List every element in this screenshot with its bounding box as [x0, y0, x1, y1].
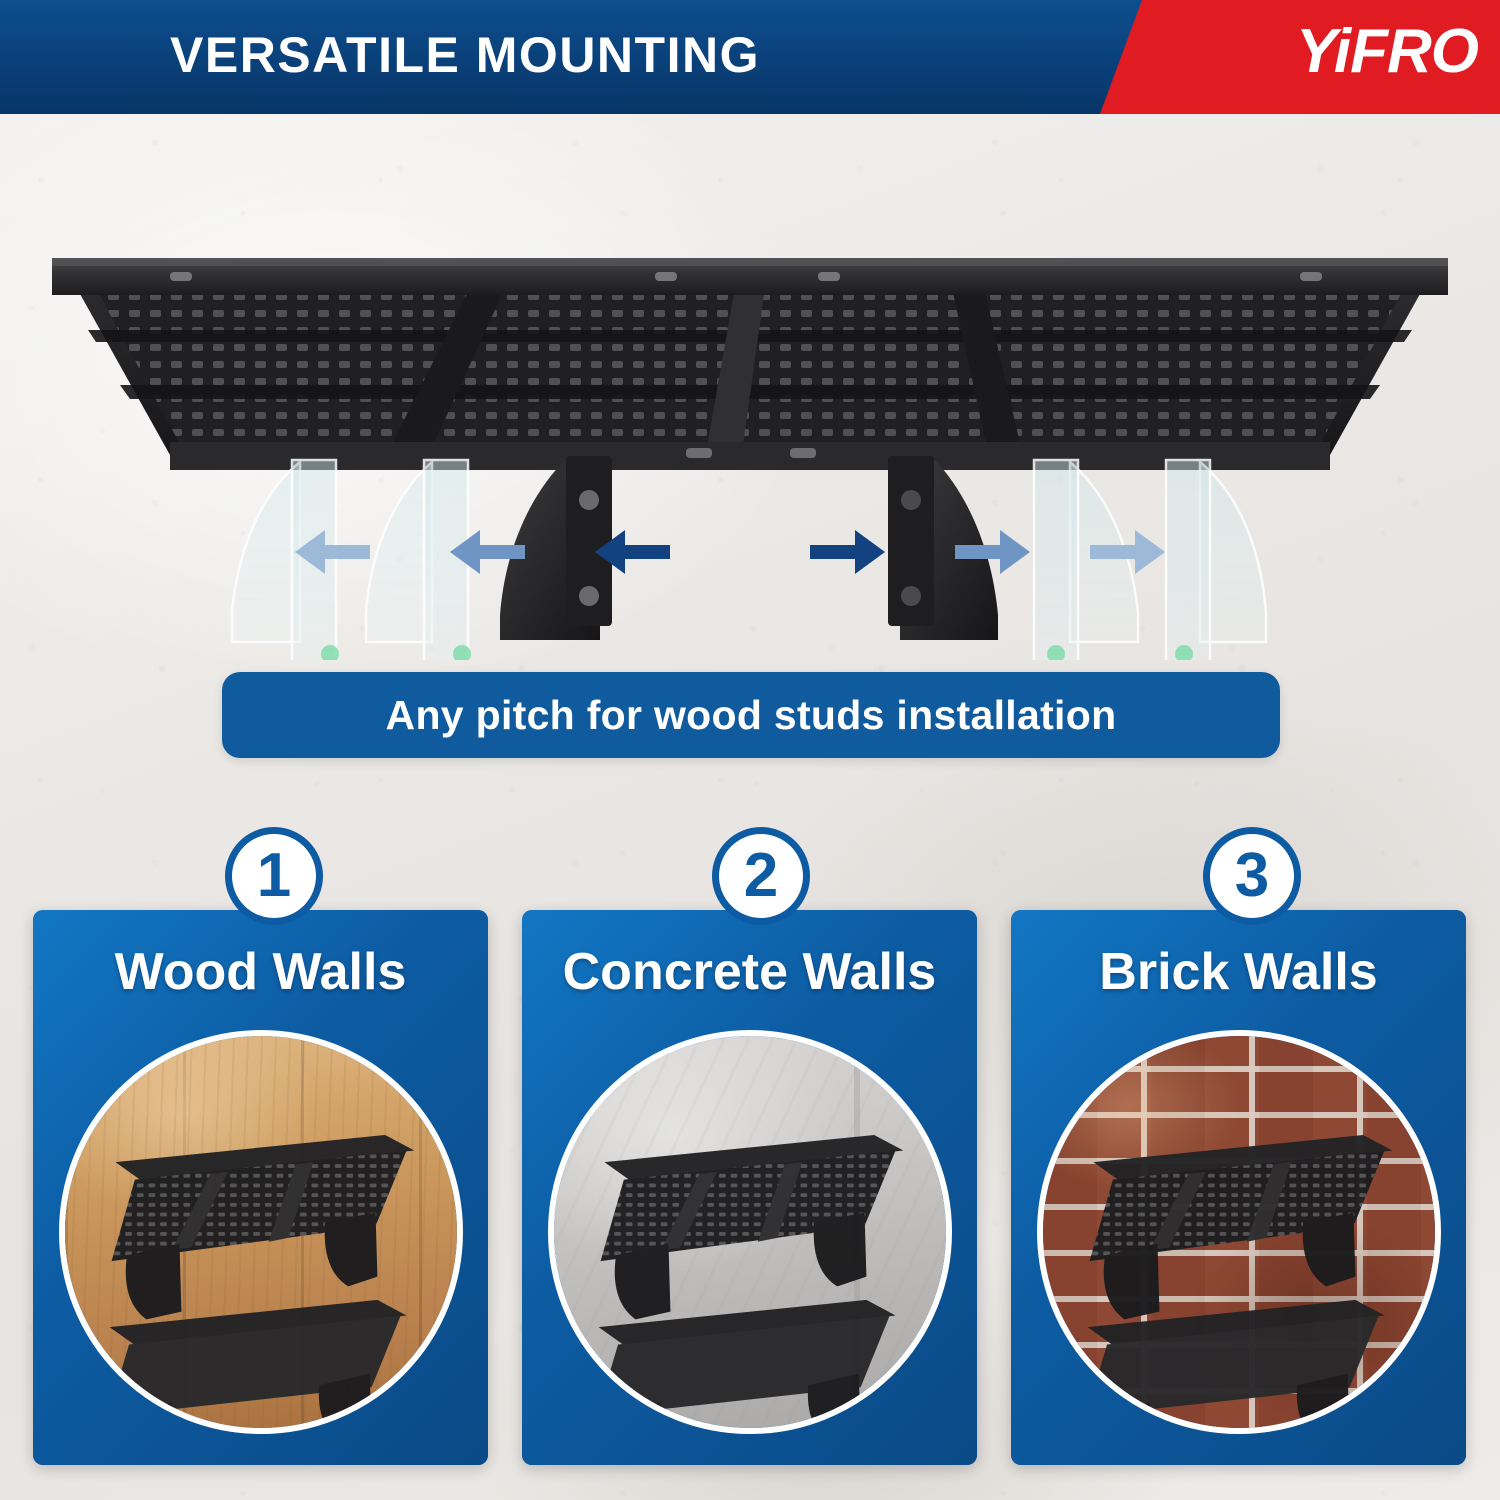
pitch-banner-text: Any pitch for wood studs installation	[386, 692, 1117, 739]
step-badge-2: 2	[712, 827, 810, 925]
shelf-photo-overlay	[1043, 1036, 1435, 1428]
card-photo-wood	[59, 1030, 463, 1434]
product-infographic: VERSATILE MOUNTING YiFRO	[0, 0, 1500, 1500]
shelf-deck	[75, 285, 1425, 455]
card-concrete-walls[interactable]: Concrete Walls	[522, 910, 977, 1465]
shelf-photo-overlay	[554, 1036, 946, 1428]
card-title: Wood Walls	[33, 942, 488, 1002]
card-title: Concrete Walls	[522, 942, 977, 1002]
card-photo-brick	[1037, 1030, 1441, 1434]
rear-rail	[170, 442, 1330, 470]
card-brick-walls[interactable]: Brick Walls	[1011, 910, 1466, 1465]
front-rail	[52, 258, 1448, 295]
step-number: 3	[1235, 845, 1269, 907]
hero-illustration	[0, 170, 1500, 660]
step-number: 2	[744, 845, 778, 907]
rack-diagram	[0, 170, 1500, 660]
step-number: 1	[257, 845, 291, 907]
card-title: Brick Walls	[1011, 942, 1466, 1002]
step-badge-3: 3	[1203, 827, 1301, 925]
arrow-right-inner	[810, 530, 885, 574]
step-badge-1: 1	[225, 827, 323, 925]
page-title: VERSATILE MOUNTING	[170, 26, 760, 84]
card-wood-walls[interactable]: Wood Walls	[33, 910, 488, 1465]
shelf-photo-overlay	[65, 1036, 457, 1428]
ghost-brackets-left	[232, 460, 471, 660]
pitch-banner: Any pitch for wood studs installation	[222, 672, 1280, 758]
wall-type-cards: Wood Walls	[33, 910, 1467, 1465]
brand-logo: YiFRO	[1296, 16, 1478, 87]
card-photo-concrete	[548, 1030, 952, 1434]
